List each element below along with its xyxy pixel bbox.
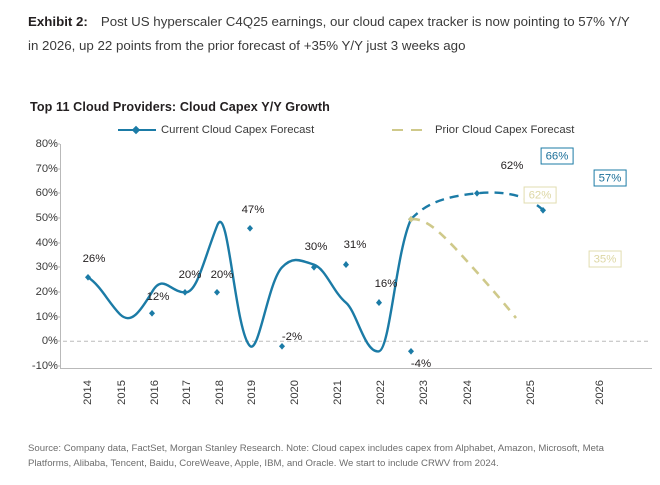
data-label-2015: 12% xyxy=(147,291,170,303)
data-label-2019: -2% xyxy=(282,331,302,343)
data-label-2022: 16% xyxy=(375,278,398,290)
data-point-marker xyxy=(214,289,220,296)
x-tick-label: 2016 xyxy=(149,380,161,405)
legend-line-solid-icon xyxy=(118,125,156,135)
data-label-2025-current: 66% xyxy=(541,148,574,165)
legend-item-prior[interactable]: Prior Cloud Capex Forecast xyxy=(392,124,574,136)
data-point-marker xyxy=(408,348,414,355)
data-point-marker xyxy=(376,299,382,306)
data-label-2025-prior: 62% xyxy=(524,187,557,204)
x-tick-label: 2025 xyxy=(525,380,537,405)
x-tick-label: 2019 xyxy=(246,380,258,405)
chart-legend: Current Cloud Capex Forecast Prior Cloud… xyxy=(30,124,630,142)
legend-item-current[interactable]: Current Cloud Capex Forecast xyxy=(118,124,314,136)
legend-line-dashed-icon xyxy=(392,125,430,135)
exhibit-label: Exhibit 2: xyxy=(28,14,88,29)
x-tick-label: 2026 xyxy=(594,380,606,405)
data-label-2016: 20% xyxy=(179,269,202,281)
x-axis-labels: 2014 2015 2016 2017 2018 2019 2020 2021 … xyxy=(0,374,660,426)
x-tick-label: 2014 xyxy=(82,380,94,405)
data-point-marker xyxy=(343,261,349,268)
x-tick-label: 2018 xyxy=(214,380,226,405)
data-point-marker xyxy=(474,190,480,197)
x-tick-label: 2021 xyxy=(332,380,344,405)
data-label-2014: 26% xyxy=(83,253,106,265)
legend-label-prior: Prior Cloud Capex Forecast xyxy=(435,124,574,136)
data-point-marker xyxy=(247,225,253,232)
data-label-2017: 20% xyxy=(211,269,234,281)
data-label-2020: 30% xyxy=(305,241,328,253)
data-label-2018: 47% xyxy=(242,204,265,216)
data-label-2026-prior: 35% xyxy=(589,251,622,268)
data-label-2023: -4% xyxy=(411,358,431,370)
data-point-marker xyxy=(279,343,285,350)
exhibit-caption: Post US hyperscaler C4Q25 earnings, our … xyxy=(28,14,630,53)
x-tick-label: 2017 xyxy=(181,380,193,405)
prior-series-dashed-path xyxy=(411,219,516,318)
x-tick-label: 2022 xyxy=(375,380,387,405)
x-tick-label: 2023 xyxy=(418,380,430,405)
source-note: Source: Company data, FactSet, Morgan St… xyxy=(28,442,636,471)
chart-container: Top 11 Cloud Providers: Cloud Capex Y/Y … xyxy=(0,96,660,426)
data-label-2021: 31% xyxy=(344,239,367,251)
x-tick-label: 2024 xyxy=(462,380,474,405)
exhibit-header: Exhibit 2:Post US hyperscaler C4Q25 earn… xyxy=(28,10,638,58)
legend-label-current: Current Cloud Capex Forecast xyxy=(161,124,314,136)
data-label-2026-current: 57% xyxy=(594,170,627,187)
data-label-2024: 62% xyxy=(501,160,524,172)
data-point-marker xyxy=(182,289,188,296)
x-tick-label: 2015 xyxy=(116,380,128,405)
data-point-marker xyxy=(149,310,155,317)
chart-title: Top 11 Cloud Providers: Cloud Capex Y/Y … xyxy=(30,100,330,114)
plot-area: 80% 70% 60% 50% 40% 30% 20% 10% 0% -10% xyxy=(0,142,660,426)
x-tick-label: 2020 xyxy=(289,380,301,405)
